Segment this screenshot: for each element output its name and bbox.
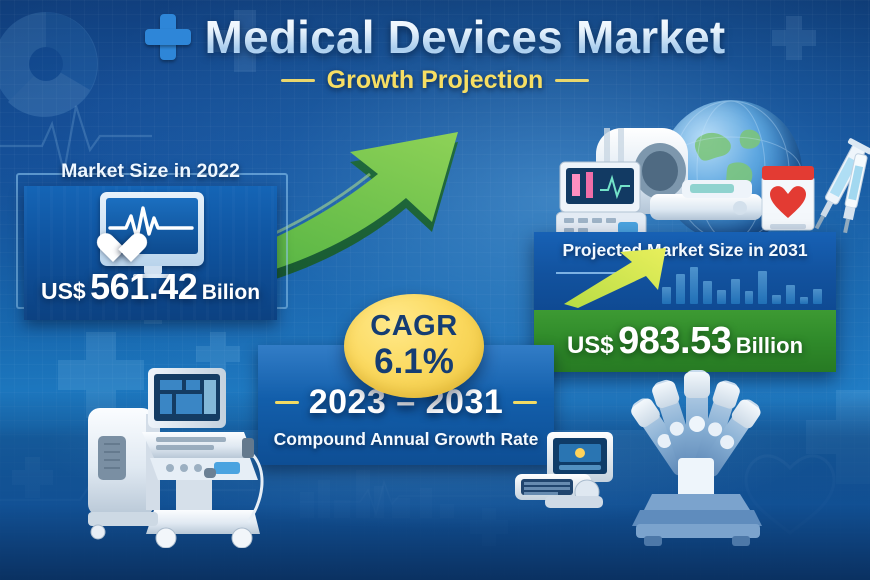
card-value-2022: US$ 561.42 Bilion bbox=[24, 266, 277, 308]
card-value-2031: US$ 983.53 Billion bbox=[534, 320, 836, 363]
header: Medical Devices Market Growth Projection bbox=[0, 10, 870, 95]
syringe-icon bbox=[796, 136, 870, 236]
cagr-label: CAGR bbox=[370, 312, 457, 341]
device-cluster bbox=[560, 100, 860, 240]
cagr-value: 6.1% bbox=[374, 343, 454, 380]
currency-2022: US$ bbox=[41, 278, 86, 304]
card-label-2022: Market Size in 2022 bbox=[24, 160, 277, 183]
market-size-2022-card: Market Size in 2022 US$ 561.42 Bilion bbox=[24, 186, 277, 320]
projected-market-size-2031-card: Projected Market Size in 2031 US$ 983.53… bbox=[534, 232, 836, 372]
subtitle-row: Growth Projection bbox=[0, 66, 870, 95]
ultrasound-machine-icon bbox=[58, 352, 268, 548]
unit-2031: Billion bbox=[736, 333, 803, 358]
years-dash-left bbox=[275, 401, 299, 404]
mini-bar-chart bbox=[662, 262, 822, 304]
subtitle-dash-right bbox=[555, 79, 589, 82]
cagr-caption: Compound Annual Growth Rate bbox=[258, 429, 554, 450]
years-dash-right bbox=[513, 401, 537, 404]
amount-2031: 983.53 bbox=[618, 320, 731, 362]
growth-arrow-bars-icon bbox=[562, 246, 672, 308]
surgical-robot-icon bbox=[600, 370, 790, 550]
unit-2022: Bilion bbox=[202, 281, 260, 304]
page-title: Medical Devices Market bbox=[205, 10, 726, 64]
card-body-2022: US$ 561.42 Bilion bbox=[24, 186, 277, 320]
infographic-canvas: Medical Devices Market Growth Projection bbox=[0, 0, 870, 580]
currency-2031: US$ bbox=[567, 332, 614, 359]
page-subtitle: Growth Projection bbox=[327, 66, 544, 95]
heart-icon bbox=[104, 234, 138, 264]
cagr-bubble: CAGR 6.1% bbox=[344, 294, 484, 398]
amount-2022: 561.42 bbox=[90, 266, 197, 307]
medical-cross-icon bbox=[145, 14, 191, 60]
subtitle-dash-left bbox=[281, 79, 315, 82]
card-top-2031: Projected Market Size in 2031 bbox=[534, 232, 836, 310]
